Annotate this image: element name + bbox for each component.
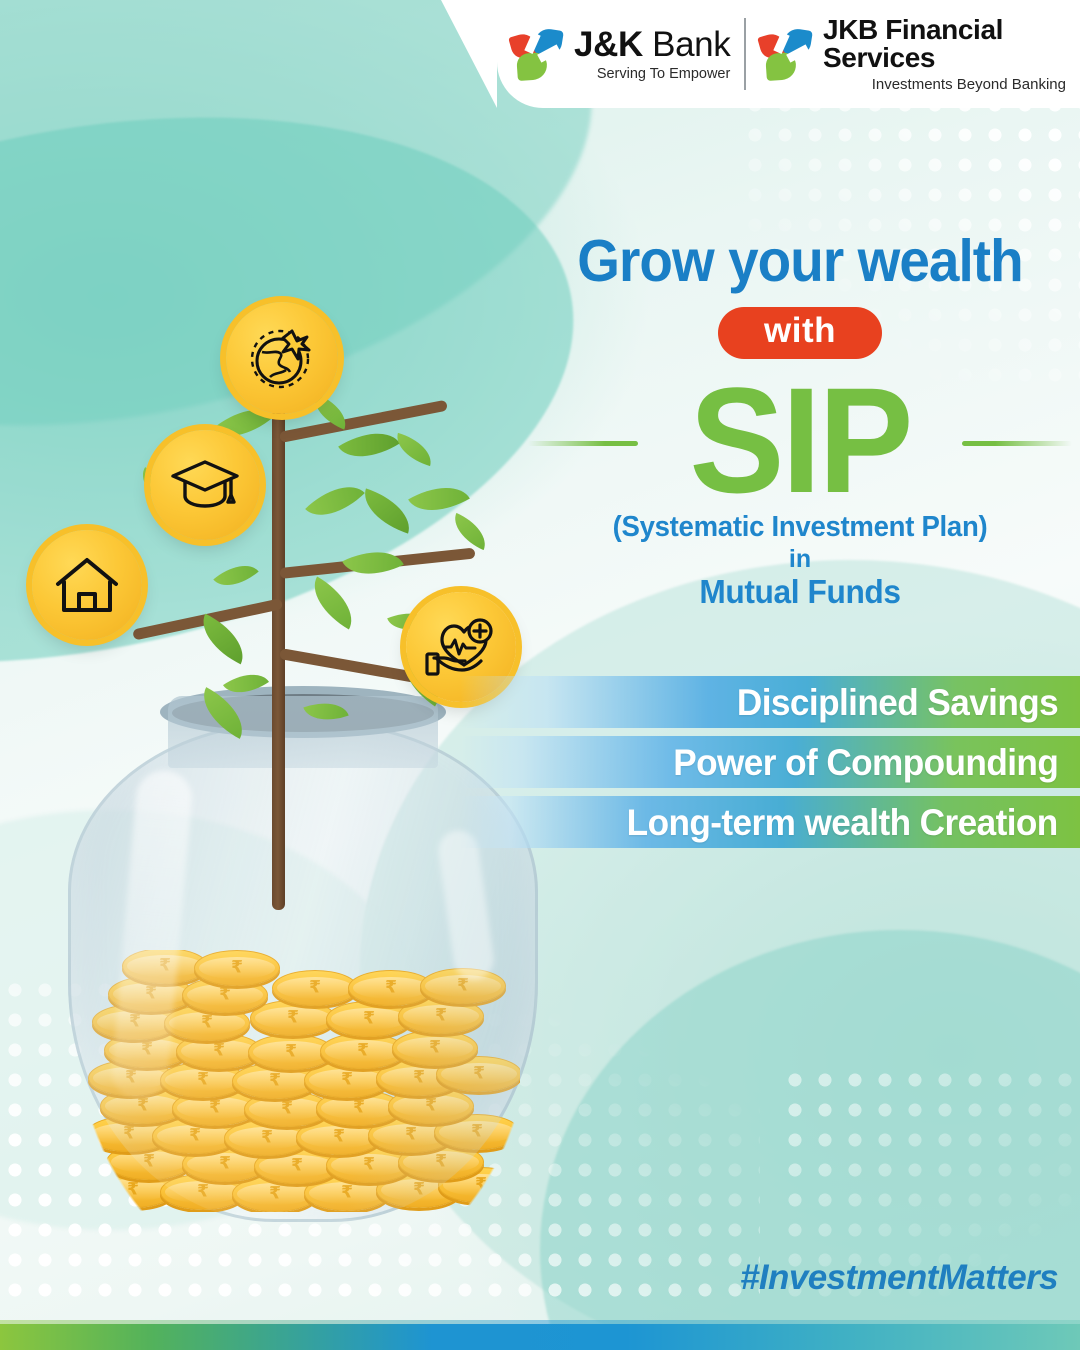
- jk-bank-name-suffix: Bank: [652, 25, 730, 64]
- graduation-cap-icon: [169, 452, 241, 518]
- with-badge-wrapper: with: [520, 307, 1080, 359]
- jkb-financial-services-logo: JKB Financial Services Investments Beyon…: [746, 16, 1080, 92]
- jk-bank-name: J&K Bank: [574, 27, 730, 62]
- hand-heart-plus-icon: [424, 614, 498, 680]
- sip-row: SIP: [520, 365, 1080, 515]
- poster-canvas: J&K Bank Serving To Empower JKB Financia…: [0, 0, 1080, 1350]
- benefit-bar: Disciplined Savings: [460, 676, 1080, 728]
- goal-coin-education: [150, 430, 260, 540]
- benefit-label: Long-term wealth Creation: [627, 804, 1058, 841]
- bottom-color-strip: [0, 1324, 1080, 1350]
- jkb-petal-logo-icon: [760, 27, 814, 81]
- sip-connector: in: [520, 545, 1080, 574]
- jk-bank-petal-logo-icon: [511, 27, 565, 81]
- product-name: Mutual Funds: [531, 574, 1069, 610]
- benefits-list: Disciplined Savings Power of Compounding…: [460, 676, 1080, 856]
- plant-leaf: [302, 577, 364, 630]
- house-icon: [52, 552, 122, 618]
- jk-bank-logo-text: J&K Bank Serving To Empower: [574, 27, 730, 82]
- goal-coin-home: [32, 530, 142, 640]
- benefit-bar: Long-term wealth Creation: [460, 796, 1080, 848]
- plant-leaf: [392, 433, 437, 466]
- with-badge: with: [718, 307, 882, 359]
- plant-leaf: [357, 488, 418, 533]
- plant-leaf: [447, 513, 493, 550]
- globe-airplane-icon: [247, 323, 317, 393]
- jkb-logo-text: JKB Financial Services Investments Beyon…: [823, 16, 1066, 92]
- benefit-label: Power of Compounding: [673, 744, 1058, 781]
- jkb-tagline: Investments Beyond Banking: [823, 77, 1066, 92]
- sip-acronym: SIP: [534, 365, 1066, 515]
- jkb-name: JKB Financial Services: [823, 16, 1066, 72]
- header-logo-bar: J&K Bank Serving To Empower JKB Financia…: [497, 0, 1080, 108]
- plant-leaf: [213, 554, 258, 597]
- plant-leaf: [342, 538, 404, 589]
- jk-bank-name-prefix: J&K: [574, 25, 643, 64]
- plant-leaf: [305, 471, 365, 530]
- campaign-hashtag: #InvestmentMatters: [740, 1258, 1058, 1298]
- headline-copy-block: Grow your wealth with SIP (Systematic In…: [520, 232, 1080, 610]
- goal-coin-travel: [226, 302, 338, 414]
- benefit-bar: Power of Compounding: [460, 736, 1080, 788]
- sip-expansion: (Systematic Investment Plan): [534, 511, 1066, 544]
- jk-bank-logo: J&K Bank Serving To Empower: [497, 27, 744, 82]
- logo-group: J&K Bank Serving To Empower JKB Financia…: [497, 0, 1080, 108]
- benefit-label: Disciplined Savings: [737, 684, 1058, 721]
- page-title: Grow your wealth: [540, 232, 1061, 291]
- jk-bank-tagline: Serving To Empower: [574, 67, 730, 82]
